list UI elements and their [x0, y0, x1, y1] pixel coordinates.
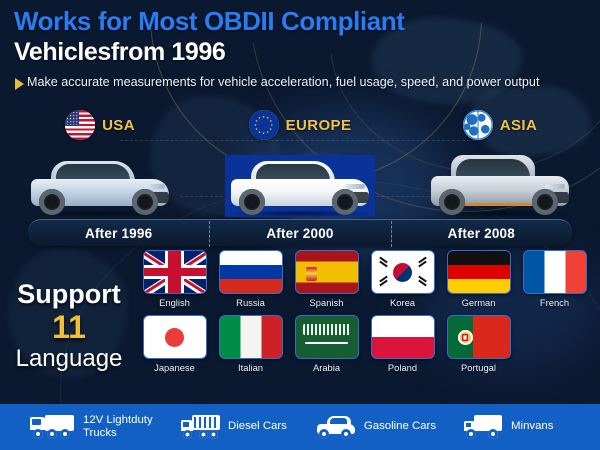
language-label: Language [16, 345, 123, 372]
minivan-icon [464, 415, 504, 439]
portugal-flag-icon [447, 315, 511, 359]
support-count-block: Support 11 Language [0, 250, 138, 400]
flag-row-2: Japanese Italian Arabia Poland [138, 315, 594, 374]
region-asia: ASIA [400, 107, 600, 219]
europe-white-sedan-illustration [225, 155, 375, 217]
vehicle-type-label: 12V Lightduty Trucks [83, 414, 155, 441]
after-year-asia: After 2008 [391, 226, 572, 241]
italy-flag-icon [219, 315, 283, 359]
bullet-text: Make accurate measurements for vehicle a… [27, 75, 539, 91]
vehicle-type-label: Minvans [511, 420, 553, 433]
language-item-japanese[interactable]: Japanese [138, 315, 211, 374]
poland-flag-icon [371, 315, 435, 359]
region-label: EUROPE [286, 117, 352, 134]
region-car-image [200, 143, 400, 217]
bullet-row: Make accurate measurements for vehicle a… [14, 75, 589, 91]
language-item-french[interactable]: French [518, 250, 591, 309]
language-count: 11 [52, 310, 86, 344]
russia-flag-icon [219, 250, 283, 294]
region-header: USA [0, 107, 200, 143]
language-item-poland[interactable]: Poland [366, 315, 439, 374]
region-car-image [0, 143, 200, 217]
language-item-english[interactable]: English [138, 250, 211, 309]
light-duty-truck-icon [30, 415, 76, 439]
flag-grid: English Russia Spanish [138, 250, 600, 400]
language-name: Spanish [310, 297, 344, 309]
uk-flag-icon [143, 250, 207, 294]
after-year-usa: After 1996 [28, 226, 209, 241]
vehicle-type-minivans: Minvans [464, 415, 553, 439]
language-name: English [159, 297, 190, 309]
flag-row-1: English Russia Spanish [138, 250, 594, 309]
region-label: ASIA [500, 117, 537, 134]
regions-row: USA EUROPE [0, 107, 600, 219]
headline-secondary: Vehiclesfrom 1996 [14, 37, 589, 67]
model-year-bar: After 1996 After 2000 After 2008 [28, 219, 572, 246]
vehicle-type-label: Diesel Cars [228, 420, 287, 433]
region-header: ASIA [400, 107, 600, 143]
usa-electric-crossover-illustration [25, 155, 175, 217]
promo-poster: Works for Most OBDII Compliant Vehiclesf… [0, 0, 600, 450]
language-name: Korea [390, 297, 415, 309]
language-item-spanish[interactable]: Spanish [290, 250, 363, 309]
vehicle-types-bar: 12V Lightduty Trucks Diesel Cars Gasolin… [0, 404, 600, 450]
language-name: French [540, 297, 569, 309]
language-name: Japanese [154, 362, 195, 374]
header: Works for Most OBDII Compliant Vehiclesf… [14, 6, 589, 91]
france-flag-icon [523, 250, 587, 294]
vehicle-type-light-duty-trucks: 12V Lightduty Trucks [30, 414, 155, 441]
vehicle-type-gasoline-cars: Gasoline Cars [315, 415, 436, 439]
language-item-italian[interactable]: Italian [214, 315, 287, 374]
language-name: Portugal [461, 362, 496, 374]
saudi-arabia-flag-icon [295, 315, 359, 359]
korea-flag-icon [371, 250, 435, 294]
language-item-arabia[interactable]: Arabia [290, 315, 363, 374]
language-section: Support 11 Language English Russia [0, 250, 600, 400]
language-item-german[interactable]: German [442, 250, 515, 309]
region-label: USA [102, 117, 135, 134]
europe-flag-icon [249, 110, 279, 140]
language-name: Russia [236, 297, 265, 309]
diesel-truck-icon [181, 415, 221, 439]
asia-globe-icon [463, 110, 493, 140]
language-name: Poland [388, 362, 417, 374]
gasoline-car-icon [315, 415, 357, 439]
region-europe: EUROPE [200, 107, 400, 219]
region-car-image [400, 143, 600, 217]
usa-flag-icon [65, 110, 95, 140]
language-name: Arabia [313, 362, 340, 374]
triangle-bullet-icon [15, 78, 24, 90]
language-item-korea[interactable]: Korea [366, 250, 439, 309]
language-name: German [462, 297, 496, 309]
headline-primary: Works for Most OBDII Compliant [14, 6, 589, 36]
region-header: EUROPE [200, 107, 400, 143]
after-year-europe: After 2000 [209, 226, 390, 241]
region-usa: USA [0, 107, 200, 219]
vehicle-type-label: Gasoline Cars [364, 420, 436, 433]
support-label: Support [17, 280, 120, 309]
spain-flag-icon [295, 250, 359, 294]
vehicle-type-diesel-cars: Diesel Cars [181, 415, 287, 439]
asia-silver-suv-illustration [425, 155, 575, 217]
language-item-russia[interactable]: Russia [214, 250, 287, 309]
japan-flag-icon [143, 315, 207, 359]
language-item-portugal[interactable]: Portugal [442, 315, 515, 374]
language-name: Italian [238, 362, 263, 374]
germany-flag-icon [447, 250, 511, 294]
